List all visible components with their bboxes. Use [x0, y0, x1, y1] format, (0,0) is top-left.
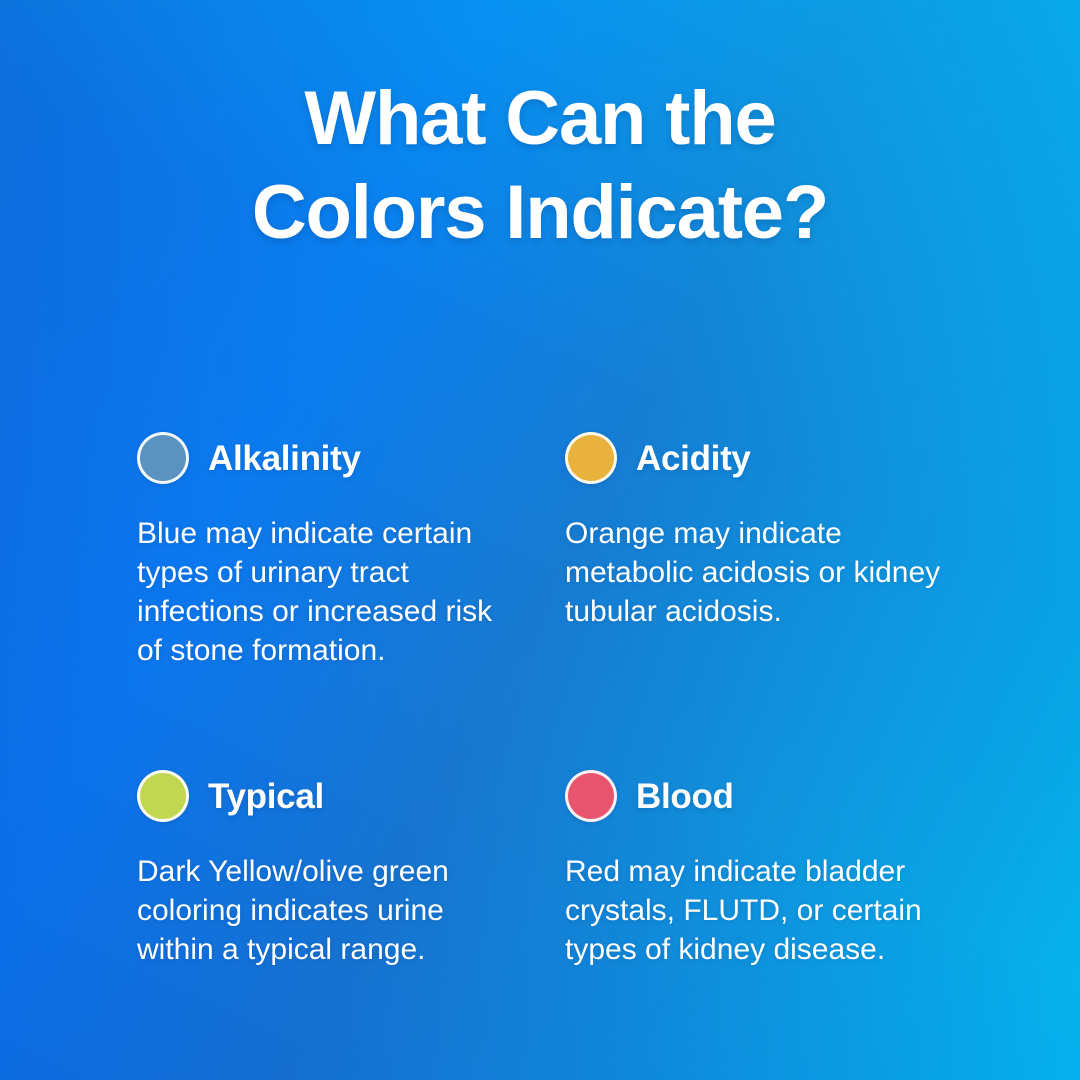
page-title-line-2: Colors Indicate? [60, 166, 1020, 260]
legend-entry-alkalinity: Alkalinity Blue may indicate certain typ… [137, 432, 565, 700]
legend-entry-header: Typical [137, 770, 565, 822]
legend-entry-description: Orange may indicate metabolic acidosis o… [565, 514, 945, 631]
color-swatch-green [137, 770, 189, 822]
legend-entry-blood: Blood Red may indicate bladder crystals,… [565, 770, 967, 999]
legend-entry-label: Blood [636, 779, 734, 814]
legend-entry-typical: Typical Dark Yellow/olive green coloring… [137, 770, 565, 999]
legend-entry-label: Acidity [636, 441, 751, 476]
page-title-line-1: What Can the [60, 72, 1020, 166]
legend-entry-header: Blood [565, 770, 967, 822]
legend-entry-description: Blue may indicate certain types of urina… [137, 514, 517, 670]
color-legend-grid: Alkalinity Blue may indicate certain typ… [137, 432, 967, 999]
infographic-canvas: What Can the Colors Indicate? Alkalinity… [0, 0, 1080, 1080]
page-title: What Can the Colors Indicate? [0, 72, 1080, 260]
legend-entry-header: Acidity [565, 432, 967, 484]
legend-entry-description: Red may indicate bladder crystals, FLUTD… [565, 852, 945, 969]
legend-entry-acidity: Acidity Orange may indicate metabolic ac… [565, 432, 967, 700]
color-swatch-red [565, 770, 617, 822]
legend-entry-header: Alkalinity [137, 432, 565, 484]
color-swatch-blue [137, 432, 189, 484]
legend-entry-description: Dark Yellow/olive green coloring indicat… [137, 852, 517, 969]
legend-entry-label: Alkalinity [208, 441, 361, 476]
legend-entry-label: Typical [208, 779, 324, 814]
color-swatch-orange [565, 432, 617, 484]
